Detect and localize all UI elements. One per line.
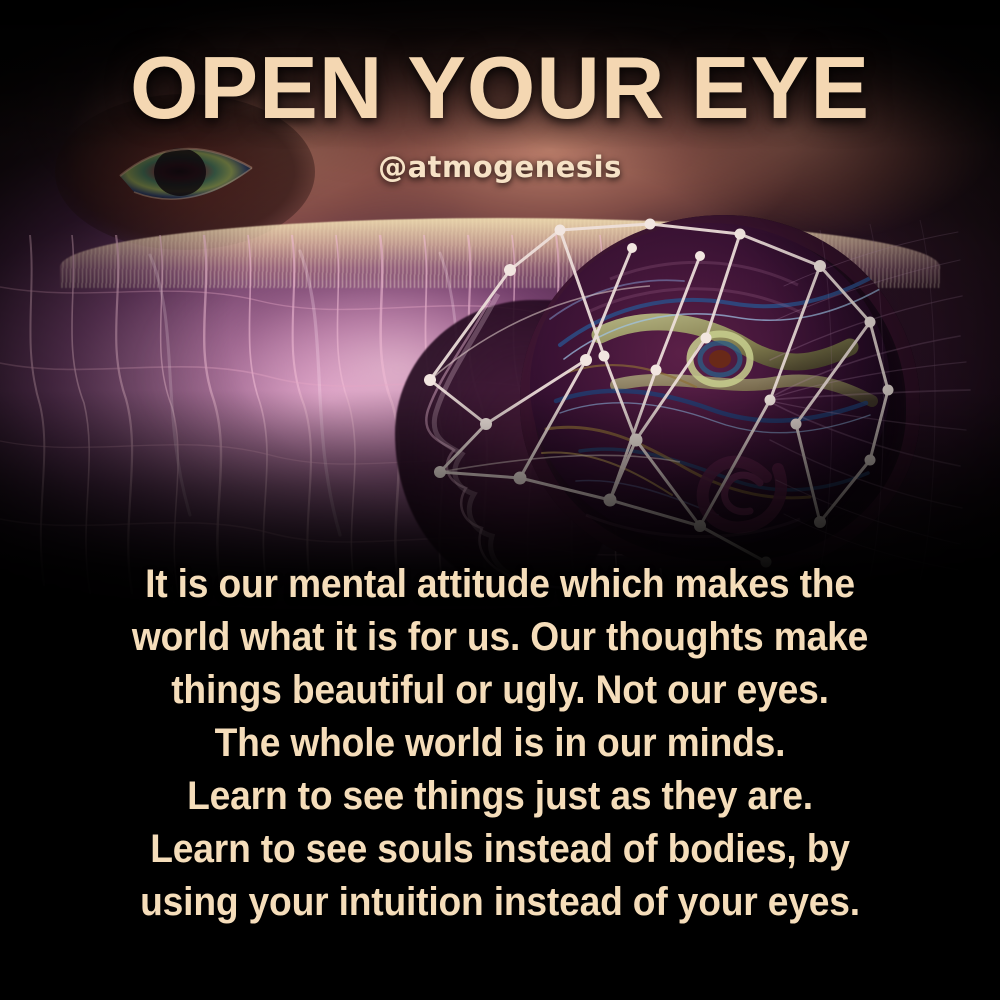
author-handle: @atmogenesis — [0, 150, 1000, 184]
quote-line: world what it is for us. Our thoughts ma… — [35, 611, 965, 664]
poster-canvas: OPEN YOUR EYE @atmogenesis It is our men… — [0, 0, 1000, 1000]
quote-block: It is our mental attitude which makes th… — [0, 558, 1000, 929]
neural-network-overlay — [400, 210, 940, 600]
quote-line: things beautiful or ugly. Not our eyes. — [35, 664, 965, 717]
quote-line: The whole world is in our minds. — [35, 717, 965, 770]
page-title: OPEN YOUR EYE — [0, 44, 1000, 132]
quote-line: Learn to see things just as they are. — [35, 770, 965, 823]
quote-line: Learn to see souls instead of bodies, by — [35, 823, 965, 876]
quote-line: It is our mental attitude which makes th… — [35, 558, 965, 611]
quote-line: using your intuition instead of your eye… — [35, 876, 965, 929]
